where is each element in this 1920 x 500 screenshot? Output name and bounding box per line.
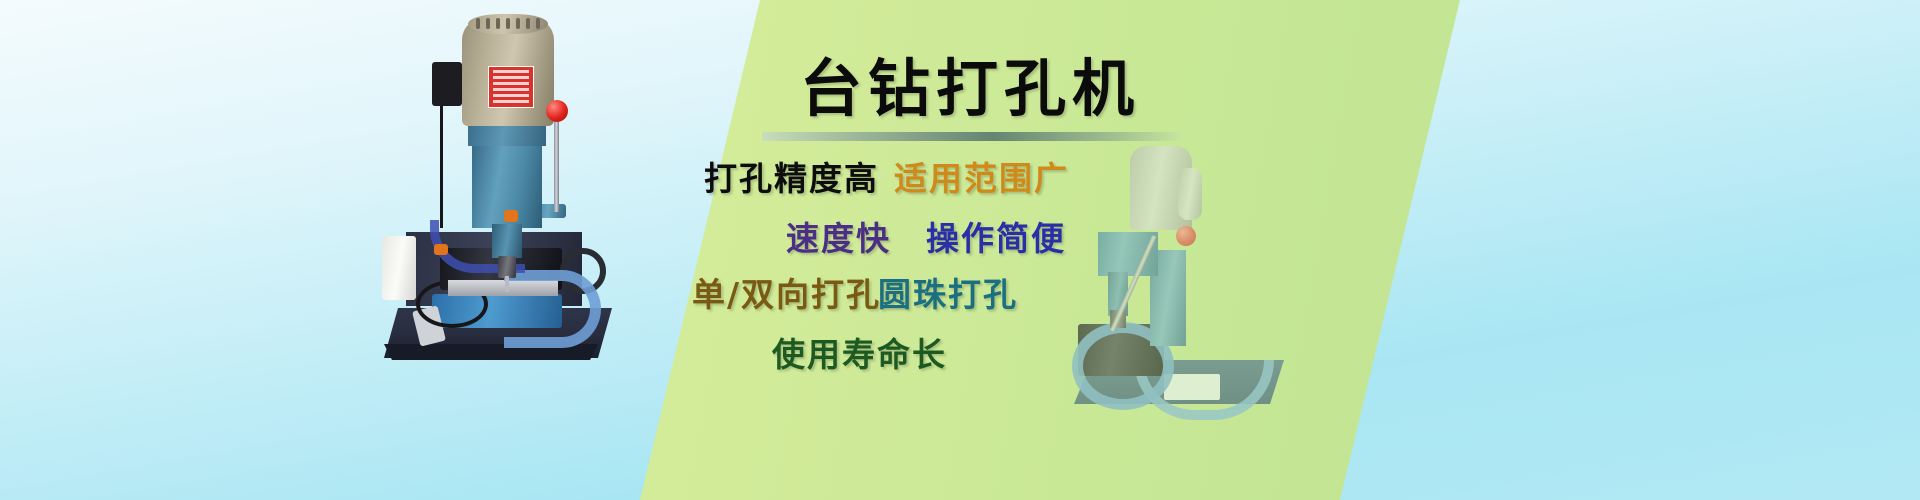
product-banner: 台钻打孔机 打孔精度高 适用范围广 速度快 操作简便 单/双向打孔 圆珠打孔 使… <box>0 0 1920 500</box>
feature-row-2: 速度快 操作简便 <box>620 212 1320 268</box>
feature-item-4: 单/双向打孔 <box>692 268 881 316</box>
feature-item-3: 操作简便 <box>926 212 1066 260</box>
feature-item-0: 打孔精度高 <box>704 152 879 200</box>
feature-list: 打孔精度高 适用范围广 速度快 操作简便 单/双向打孔 圆珠打孔 使用寿命长 <box>620 140 1320 420</box>
page-title: 台钻打孔机 <box>760 38 1180 128</box>
feature-row-3: 单/双向打孔 圆珠打孔 <box>620 268 1320 324</box>
feature-row-4: 使用寿命长 <box>620 328 1320 384</box>
feature-row-1: 打孔精度高 适用范围广 <box>620 152 1320 208</box>
feature-item-1: 适用范围广 <box>894 152 1069 200</box>
feature-item-6: 使用寿命长 <box>772 328 947 376</box>
banner-content: 台钻打孔机 打孔精度高 适用范围广 速度快 操作简便 单/双向打孔 圆珠打孔 使… <box>0 0 1920 500</box>
feature-item-5: 圆珠打孔 <box>878 268 1018 316</box>
feature-item-2: 速度快 <box>786 212 891 260</box>
